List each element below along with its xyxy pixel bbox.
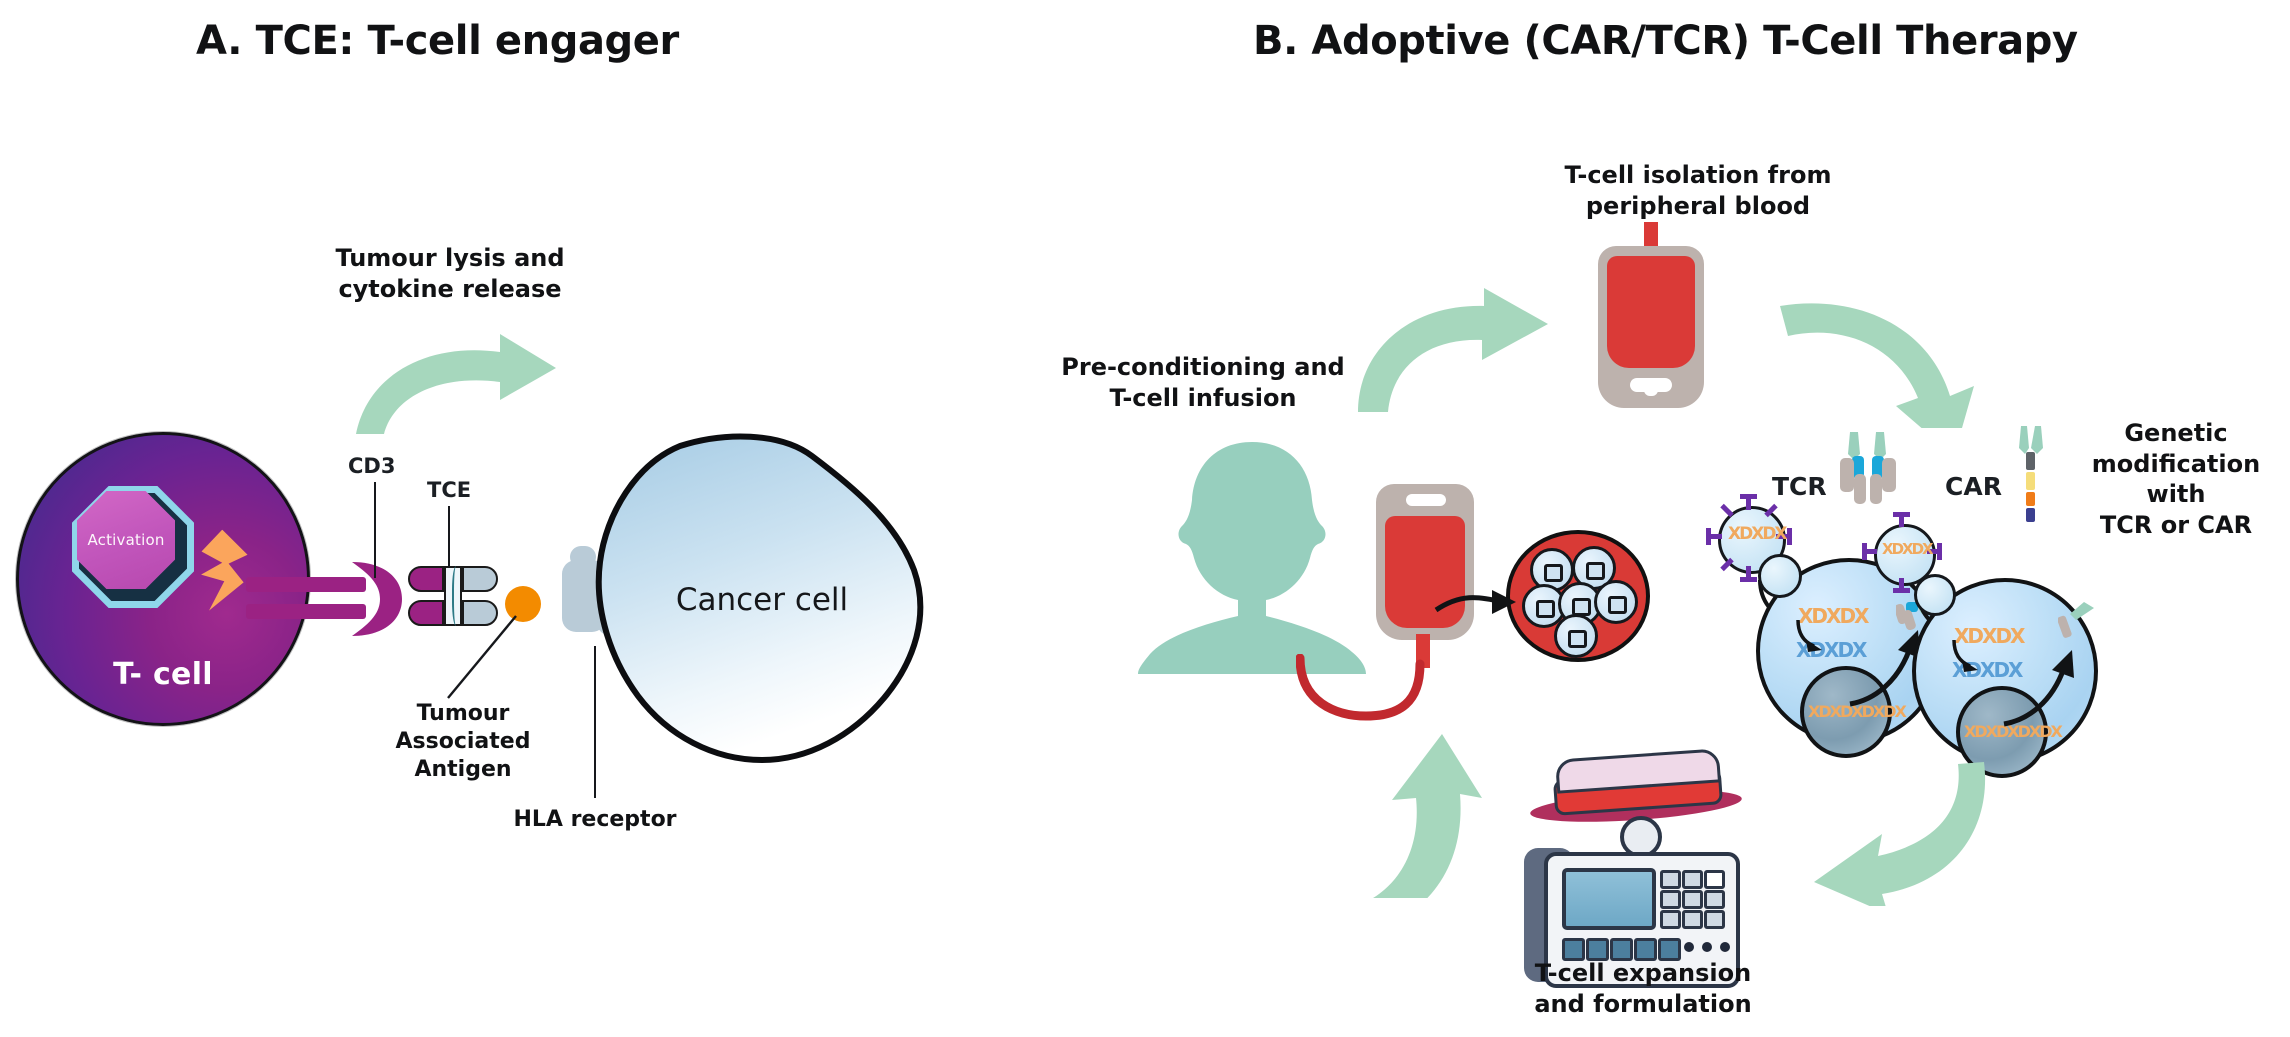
activation-label: Activation [87,531,164,549]
arrow-nucleus-car-icon [2000,646,2084,730]
vector-spike [1893,512,1910,517]
vector-spike [1893,588,1910,593]
vector-docked-tcr [1758,554,1802,598]
vector-spike [1740,577,1757,582]
patient-silhouette-icon [1132,438,1372,676]
cancer-cell-label: Cancer cell [676,582,848,618]
vector-docked-car [1914,574,1956,616]
label-cd3: CD3 [348,454,395,478]
device-indicator [1702,942,1712,952]
annotation-hla-receptor: HLA receptor [470,806,720,834]
arrow-transcription-car-icon [1950,638,1984,676]
tce-arm-bottom-left [408,600,444,626]
vector-spike [1740,494,1757,499]
tcr-receptor-icon [1838,430,1898,512]
label-tcr: TCR [1772,472,1827,501]
tce-arm-top-right [462,566,498,592]
annotation-tumour-lysis: Tumour lysis and cytokine release [320,243,580,304]
infusion-bag-port [1406,494,1446,506]
vector-spike [1937,543,1942,560]
leader-tce [448,506,450,568]
arrow-bag-to-cluster-icon [1434,586,1520,624]
device-indicator [1684,942,1694,952]
vector-spike [1787,528,1792,545]
annotation-tumour-antigen: Tumour Associated Antigen [388,700,538,784]
vector-dna: XDXDX [1882,540,1932,558]
label-tce: TCE [427,478,471,502]
arrow-cycle-bottom-right-icon [1786,756,1996,906]
annotation-t-cell-isolation: T-cell isolation from peripheral blood [1548,160,1848,221]
device-keypad-key [1660,890,1681,909]
device-indicator [1720,942,1730,952]
arrow-tumour-lysis-icon [350,330,580,440]
cd3-fork-icon [350,556,412,642]
car-on-cell-icon [2058,600,2098,640]
device-keypad-key [1682,890,1703,909]
device-keypad-key [1682,910,1703,929]
label-car: CAR [1945,472,2002,501]
arrow-cycle-top-right-icon [1778,288,1988,428]
arrow-cycle-top-left-icon [1352,288,1562,418]
vector-spike [1862,543,1867,560]
leader-tumour-antigen [440,612,530,702]
device-screen [1562,868,1656,930]
infusion-line-icon [1296,654,1438,724]
device-keypad-key [1660,910,1681,929]
arrow-cycle-bottom-left-icon [1330,728,1520,898]
activation-octagon-icon: Activation [72,486,194,608]
cd3-stem-lower [246,604,366,619]
device-keypad-key [1704,870,1725,889]
device-keypad-key [1660,870,1681,889]
t-cell-cluster [1506,530,1650,662]
device-keypad-key [1682,870,1703,889]
t-cell-label: T- cell [16,657,310,692]
cluster-cell [1594,580,1638,624]
cd3-stem-upper [246,577,366,592]
device-keypad-key [1704,910,1725,929]
leader-cd3 [374,482,376,578]
annotation-preconditioning-infusion: Pre-conditioning and T-cell infusion [1058,352,1348,413]
activation-bolt-icon [194,527,251,615]
annotation-t-cell-expansion: T-cell expansion and formulation [1498,958,1788,1019]
tce-arm-top-left [408,566,444,592]
car-receptor-icon [2017,424,2045,522]
arrow-transcription-tcr-icon [1794,618,1828,656]
vector-spike [1706,528,1711,545]
cluster-cell [1554,614,1598,658]
annotation-genetic-modification: Genetic modification with TCR or CAR [2060,418,2290,541]
cancer-cell: Cancer cell [584,430,940,770]
blood-bag-fluid [1607,256,1695,368]
device-keypad-key [1704,890,1725,909]
vector-dna: XDXDX [1728,524,1786,544]
panel-b-title: B. Adoptive (CAR/TCR) T-Cell Therapy [1253,18,2078,64]
panel-a-title: A. TCE: T-cell engager [196,18,679,64]
